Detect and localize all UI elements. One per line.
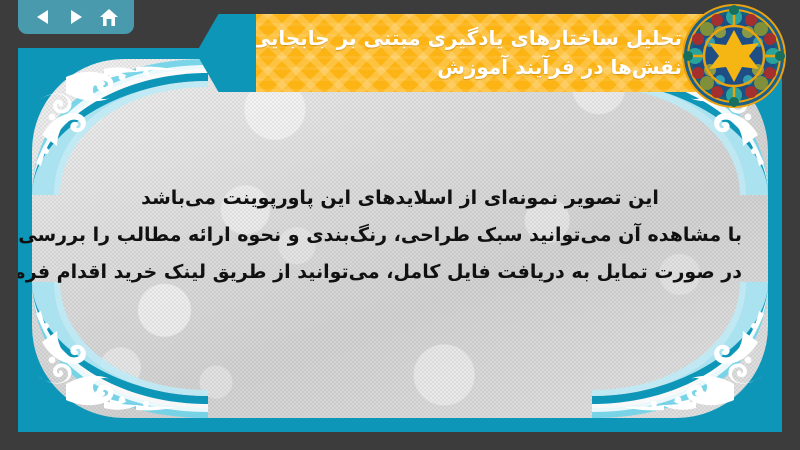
islamic-medallion-icon (680, 2, 788, 110)
back-button[interactable] (30, 5, 56, 29)
title-banner-body: تحلیل ساختارهای یادگیری مبتنی بر جابجایی… (256, 14, 704, 92)
slide-viewer: این تصویر نمونه‌ای از اسلایدهای این پاور… (0, 0, 800, 450)
body-line-1: این تصویر نمونه‌ای از اسلایدهای این پاور… (58, 180, 742, 217)
navigation-bar (18, 0, 134, 34)
body-line-3: در صورت تمایل به دریافت فایل کامل، می‌تو… (58, 254, 742, 291)
page-title-line-2: نقش‌ها در فرآیند آموزش (437, 53, 682, 82)
slide-body-text: این تصویر نمونه‌ای از اسلایدهای این پاور… (58, 180, 742, 291)
page-title-line-1: تحلیل ساختارهای یادگیری مبتنی بر جابجایی (256, 24, 682, 53)
triangle-left-icon (34, 8, 52, 26)
triangle-right-icon (67, 8, 85, 26)
slide-frame: این تصویر نمونه‌ای از اسلایدهای این پاور… (18, 48, 782, 432)
forward-button[interactable] (63, 5, 89, 29)
home-button[interactable] (96, 5, 122, 29)
home-icon (99, 8, 119, 27)
body-line-2: با مشاهده آن می‌توانید سبک طراحی، رنگ‌بن… (58, 217, 742, 254)
